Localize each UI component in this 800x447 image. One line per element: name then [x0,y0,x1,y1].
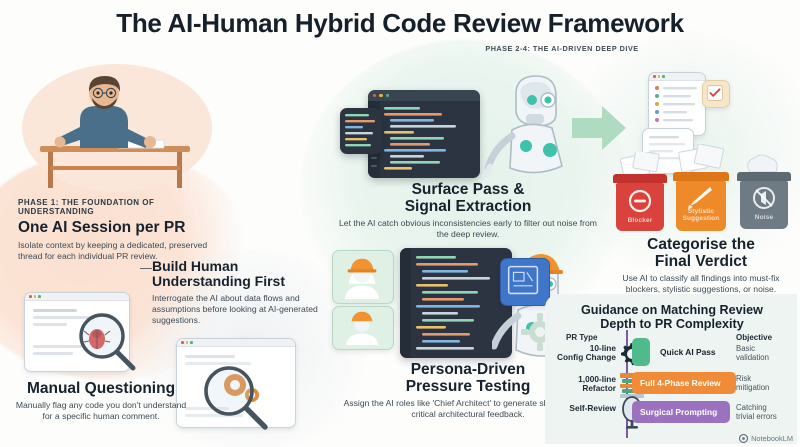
report-card-titlebar [649,73,705,81]
magnifier-glass-icon [199,363,273,433]
manual-heading: Manual Questioning [12,381,190,398]
noise-bin-label: Noise [740,214,788,221]
surface-pass-block: Surface Pass & Signal Extraction Let the… [332,182,604,240]
phase-2-4-kicker: PHASE 2-4: THE AI-DRIVEN DEEP DIVE [462,44,662,53]
green-arrow-right [572,104,626,152]
bin-noise: Noise [736,160,792,234]
stylistic-bin-label-text: Stylistic Suggestion [683,208,720,222]
phase1-kicker: PHASE 1: THE FOUNDATION OF UNDERSTANDING [18,198,208,216]
mute-icon [740,184,788,212]
window-dot-yellow [186,341,189,344]
window-dot-yellow [658,75,661,78]
blocker-bin-label: Blocker [616,217,664,224]
guidance-row-1-objective: Basic validation [736,344,798,362]
paintbrush-icon [676,184,726,210]
guidance-title-line2: Depth to PR Complexity [556,317,788,331]
noise-bin-lid [737,172,791,181]
guidance-row-1-pr-type-line2: Config Change [540,353,616,362]
gears-inspection-card [176,338,296,428]
checklist-badge-icon [703,81,727,105]
guidance-row-3-objective: Catching trivial errors [736,403,798,421]
stylistic-bin-lid [673,172,729,181]
surface-heading-line2: Signal Extraction [332,199,604,216]
verdict-heading-line1: Categorise the [606,237,796,254]
guidance-row-2-pill[interactable]: Full 4-Phase Review [632,372,736,394]
notebooklm-icon [739,434,748,443]
verdict-heading-line2: Final Verdict [606,254,796,271]
magnifier-glass-icon [75,311,139,373]
surface-body: Let the AI catch obvious inconsistencies… [332,218,604,240]
phase1-heading: One AI Session per PR [18,220,208,237]
build-heading-line1: Build Human [152,259,330,274]
build-body: Interrogate the AI about data flows and … [152,293,330,326]
blueprint-icon [501,259,547,303]
window-dot-yellow [34,295,37,298]
code-window-titlebar [368,90,480,101]
window-dot-yellow [379,94,382,97]
code-snippet-lines [340,108,382,154]
stylistic-bin-body: Stylistic Suggestion [676,181,726,231]
guidance-row-3-objective-line1: Catching [736,403,798,412]
helmet-person-avatar-icon [333,251,391,301]
guidance-row-2-pr-type-line2: Refactor [540,384,616,393]
stylistic-bin-label: Stylistic Suggestion [676,208,726,222]
bin-stylistic: Stylistic Suggestion [672,158,730,234]
noise-bin-body: Noise [740,181,788,229]
guidance-row-1-objective-line2: validation [736,353,798,362]
window-dot-red [653,75,656,78]
page-title: The AI-Human Hybrid Code Review Framewor… [0,8,800,39]
report-card-badge [702,80,730,108]
guidance-panel-title: Guidance on Matching Review Depth to PR … [556,303,788,331]
guidance-row-1-objective-line1: Basic [736,344,798,353]
window-dot-red [373,94,376,97]
guidance-title-line1: Guidance on Matching Review [556,303,788,317]
ai-robot-illustration-top [482,70,578,182]
brand-watermark: NotebookLM [739,434,793,443]
build-heading-line2: Understanding First [152,274,330,289]
window-dot-green [662,75,665,78]
guidance-row-3-objective-line2: trivial errors [736,412,798,421]
guidance-col-header-pr-type: PR Type [566,333,597,342]
infographic-canvas: The AI-Human Hybrid Code Review Framewor… [0,0,800,447]
guidance-row-3-pr-type: Self-Review [540,404,616,413]
bug-card-titlebar [25,293,129,301]
window-dot-red [29,295,32,298]
guidance-row-1-pill-swatch [632,338,650,366]
report-card-rows [649,81,705,135]
guidance-row-3-pill[interactable]: Surgical Prompting [632,401,730,423]
code-editor-window-top [368,90,480,178]
guidance-row-2-pr-type: 1,000-line Refactor [540,375,616,394]
code-snippet-window-small [340,108,382,154]
window-dot-green [190,341,193,344]
verdict-body: Use AI to classify all findings into mus… [606,273,796,295]
connector-build [140,268,152,269]
blocker-bin-lid [613,174,667,183]
blocker-bin-body: Blocker [616,183,664,231]
window-dot-green [38,295,41,298]
guidance-row-2-objective: Risk mitigation [736,374,798,392]
developer-at-desk-illustration [22,62,212,194]
guidance-row-2-objective-line1: Risk [736,374,798,383]
manual-questioning-block: Manual Questioning Manually flag any cod… [12,381,190,422]
guidance-row-1-pr-type: 10-line Config Change [540,344,616,363]
bin-blocker: Blocker [612,162,668,234]
guidance-row-2-objective-line2: mitigation [736,383,798,392]
categorise-verdict-block: Categorise the Final Verdict Use AI to c… [606,237,796,295]
gears-card-titlebar [177,339,295,347]
manual-body: Manually flag any code you don't underst… [12,400,190,422]
guidance-row-3-pr-type-line1: Self-Review [540,404,616,413]
persona-avatar-card [332,250,394,304]
surface-heading-line1: Surface Pass & [332,182,604,199]
blueprint-speech-card [500,258,550,306]
bug-inspection-card [24,292,130,372]
window-dot-red [181,341,184,344]
helmet-person-avatar-icon-2 [333,307,391,347]
persona-avatar-card-secondary [332,306,394,350]
build-understanding-block: Build Human Understanding First Interrog… [152,259,330,326]
window-dot-green [386,94,389,97]
phase1-block: PHASE 1: THE FOUNDATION OF UNDERSTANDING… [18,198,208,262]
code-lines [368,101,480,178]
brand-label: NotebookLM [751,434,793,443]
no-entry-icon [616,186,664,216]
report-card-top [648,72,706,136]
